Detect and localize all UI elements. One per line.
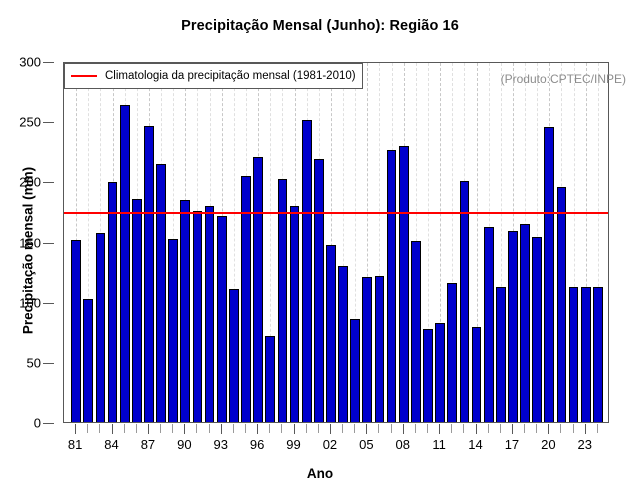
x-axis-tick-minor bbox=[597, 424, 598, 433]
x-axis-tick-minor bbox=[427, 424, 428, 433]
x-axis-tick-minor bbox=[573, 424, 574, 433]
y-axis-tick bbox=[43, 122, 54, 123]
x-axis-tick-label: 96 bbox=[250, 437, 264, 452]
y-axis-tick-label: 150 bbox=[19, 235, 41, 250]
x-axis-tick-minor bbox=[172, 424, 173, 433]
x-axis-tick-label: 05 bbox=[359, 437, 373, 452]
x-axis-tick-label: 17 bbox=[505, 437, 519, 452]
reference-line-layer bbox=[64, 63, 608, 422]
legend: Climatologia da precipitação mensal (198… bbox=[64, 63, 363, 89]
y-axis-tick-label: 100 bbox=[19, 295, 41, 310]
x-axis-tick bbox=[330, 424, 331, 434]
x-axis-tick bbox=[257, 424, 258, 434]
x-axis-tick-minor bbox=[524, 424, 525, 433]
x-axis-tick-minor bbox=[378, 424, 379, 433]
x-axis-tick-minor bbox=[415, 424, 416, 433]
y-axis-tick bbox=[43, 243, 54, 244]
x-axis-tick-minor bbox=[318, 424, 319, 433]
chart-canvas: Precipitação Mensal (Junho): Região 16 P… bbox=[0, 0, 640, 500]
y-axis-tick-label: 300 bbox=[19, 55, 41, 70]
x-axis-tick-label: 14 bbox=[468, 437, 482, 452]
x-axis-tick-minor bbox=[354, 424, 355, 433]
x-axis-tick bbox=[366, 424, 367, 434]
x-axis-tick-minor bbox=[560, 424, 561, 433]
x-axis-tick-minor bbox=[269, 424, 270, 433]
x-axis-tick-minor bbox=[342, 424, 343, 433]
x-axis-tick-minor bbox=[500, 424, 501, 433]
plot-area bbox=[63, 62, 609, 423]
legend-line-swatch bbox=[71, 75, 97, 77]
x-axis-tick bbox=[221, 424, 222, 434]
x-axis-tick-minor bbox=[451, 424, 452, 433]
x-axis-tick-label: 84 bbox=[104, 437, 118, 452]
x-axis-tick bbox=[548, 424, 549, 434]
x-axis-tick-minor bbox=[209, 424, 210, 433]
x-axis-label: Ano bbox=[0, 466, 640, 481]
x-axis-tick-minor bbox=[99, 424, 100, 433]
page-title: Precipitação Mensal (Junho): Região 16 bbox=[0, 18, 640, 34]
y-axis-tick-label: 50 bbox=[27, 355, 41, 370]
y-axis-tick bbox=[43, 363, 54, 364]
x-axis-tick bbox=[148, 424, 149, 434]
product-credit: (Produto:CPTEC/INPE) bbox=[501, 72, 626, 86]
x-axis-tick-minor bbox=[196, 424, 197, 433]
x-axis-tick bbox=[403, 424, 404, 434]
x-axis-tick-minor bbox=[488, 424, 489, 433]
x-axis-tick bbox=[512, 424, 513, 434]
x-axis-tick bbox=[294, 424, 295, 434]
x-axis: Ano 818487909396990205081114172023 bbox=[0, 423, 640, 500]
y-axis-tick bbox=[43, 182, 54, 183]
x-axis-tick-minor bbox=[391, 424, 392, 433]
x-axis-tick-label: 08 bbox=[395, 437, 409, 452]
x-axis-tick-label: 23 bbox=[577, 437, 591, 452]
x-axis-tick bbox=[439, 424, 440, 434]
y-axis-tick-label: 200 bbox=[19, 175, 41, 190]
x-axis-tick-label: 81 bbox=[68, 437, 82, 452]
x-axis-tick-minor bbox=[536, 424, 537, 433]
x-axis-tick-minor bbox=[463, 424, 464, 433]
y-axis-tick bbox=[43, 303, 54, 304]
x-axis-tick-label: 90 bbox=[177, 437, 191, 452]
x-axis-tick bbox=[476, 424, 477, 434]
x-axis-tick-minor bbox=[160, 424, 161, 433]
x-axis-tick-minor bbox=[306, 424, 307, 433]
x-axis-tick-label: 87 bbox=[141, 437, 155, 452]
x-axis-tick-label: 99 bbox=[286, 437, 300, 452]
x-axis-tick bbox=[184, 424, 185, 434]
y-axis-tick bbox=[43, 62, 54, 63]
legend-item-label: Climatologia da precipitação mensal (198… bbox=[105, 70, 356, 82]
x-axis-tick-label: 93 bbox=[213, 437, 227, 452]
y-axis-tick-label: 250 bbox=[19, 115, 41, 130]
x-axis-tick-minor bbox=[233, 424, 234, 433]
x-axis-tick-label: 02 bbox=[323, 437, 337, 452]
x-axis-tick-minor bbox=[245, 424, 246, 433]
x-axis-tick-label: 20 bbox=[541, 437, 555, 452]
x-axis-tick bbox=[75, 424, 76, 434]
x-axis-tick-minor bbox=[281, 424, 282, 433]
x-axis-tick-minor bbox=[136, 424, 137, 433]
x-axis-tick bbox=[585, 424, 586, 434]
climatology-reference-line bbox=[64, 212, 608, 214]
x-axis-tick-minor bbox=[124, 424, 125, 433]
x-axis-tick bbox=[112, 424, 113, 434]
x-axis-tick-minor bbox=[87, 424, 88, 433]
x-axis-tick-label: 11 bbox=[432, 437, 446, 452]
